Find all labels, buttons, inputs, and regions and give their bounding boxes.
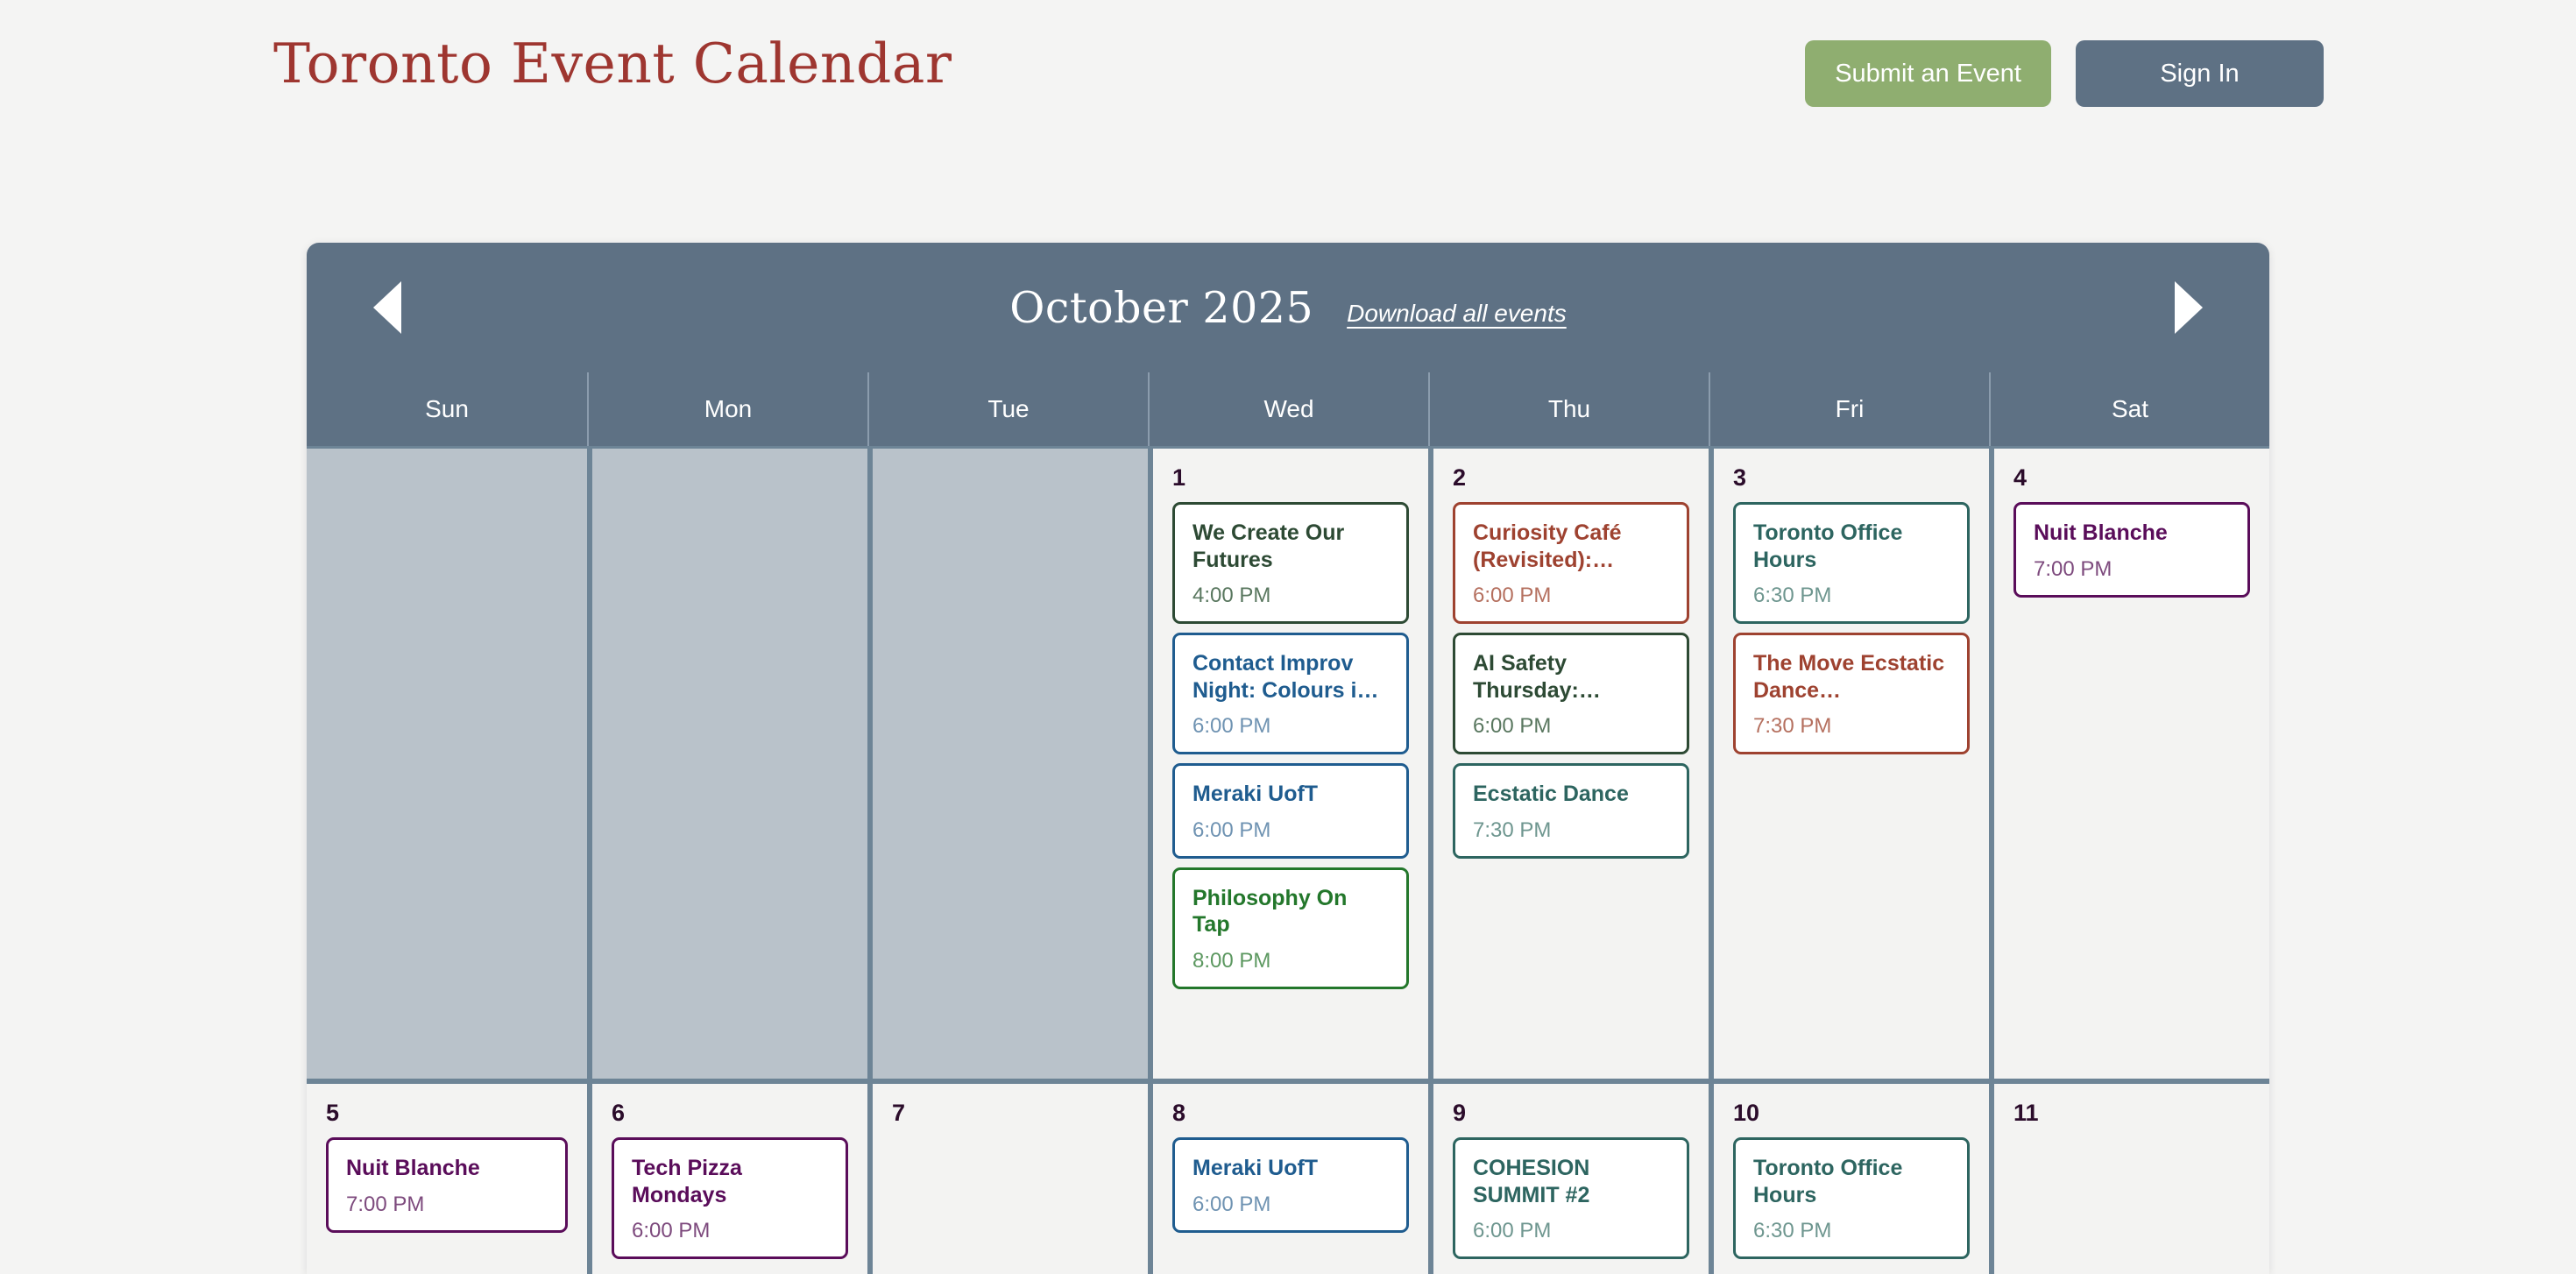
event-card[interactable]: Toronto Office Hours6:30 PM	[1733, 1137, 1970, 1259]
event-time: 6:00 PM	[1192, 820, 1389, 841]
download-all-events-link[interactable]: Download all events	[1347, 300, 1567, 328]
weekday-header-fri: Fri	[1709, 372, 1989, 446]
weekday-header-row: SunMonTueWedThuFriSat	[307, 372, 2269, 446]
event-title: Toronto Office Hours	[1753, 1155, 1950, 1208]
submit-an-event-button[interactable]: Submit an Event	[1805, 40, 2051, 107]
event-time: 6:00 PM	[1473, 1221, 1669, 1242]
event-title: Nuit Blanche	[346, 1155, 548, 1182]
weekday-header-thu: Thu	[1428, 372, 1709, 446]
event-title: AI Safety Thursday:…	[1473, 650, 1669, 704]
event-list: Toronto Office Hours6:30 PMThe Move Ecst…	[1733, 502, 1970, 754]
event-card[interactable]: Toronto Office Hours6:30 PM	[1733, 502, 1970, 624]
day-cell-4[interactable]: 4Nuit Blanche7:00 PM	[1989, 449, 2269, 1079]
event-time: 6:00 PM	[1473, 716, 1669, 737]
day-cell-3[interactable]: 3Toronto Office Hours6:30 PMThe Move Ecs…	[1709, 449, 1989, 1079]
event-list: We Create Our Futures4:00 PMContact Impr…	[1172, 502, 1409, 989]
day-cell-7[interactable]: 7	[867, 1084, 1148, 1274]
event-title: Nuit Blanche	[2034, 520, 2230, 547]
calendar-widget: October 2025 Download all events SunMonT…	[307, 243, 2269, 1274]
month-bar-center: October 2025 Download all events	[307, 243, 2269, 372]
weekday-header-sat: Sat	[1989, 372, 2269, 446]
header-actions: Submit an Event Sign In	[1805, 40, 2324, 107]
event-time: 7:00 PM	[346, 1194, 548, 1215]
day-number: 5	[326, 1101, 568, 1125]
weekday-header-sun: Sun	[307, 372, 587, 446]
event-list: Nuit Blanche7:00 PM	[326, 1137, 568, 1233]
day-number: 2	[1453, 466, 1689, 490]
day-number: 8	[1172, 1101, 1409, 1125]
day-cell-9[interactable]: 9COHESION SUMMIT #26:00 PM	[1428, 1084, 1709, 1274]
triangle-right-icon[interactable]	[2175, 281, 2203, 334]
event-card[interactable]: Meraki UofT6:00 PM	[1172, 1137, 1409, 1233]
event-time: 8:00 PM	[1192, 951, 1389, 972]
event-time: 6:30 PM	[1753, 585, 1950, 606]
event-card[interactable]: The Move Ecstatic Dance…7:30 PM	[1733, 633, 1970, 754]
event-time: 6:00 PM	[632, 1221, 828, 1242]
day-cell-6[interactable]: 6Tech Pizza Mondays6:00 PM	[587, 1084, 867, 1274]
day-cell-5[interactable]: 5Nuit Blanche7:00 PM	[307, 1084, 587, 1274]
page-title: Toronto Event Calendar	[273, 32, 952, 96]
event-title: Ecstatic Dance	[1473, 781, 1669, 808]
event-card[interactable]: Contact Improv Night: Colours i…6:00 PM	[1172, 633, 1409, 754]
event-title: We Create Our Futures	[1192, 520, 1389, 573]
day-number: 7	[892, 1101, 1129, 1125]
event-card[interactable]: Ecstatic Dance7:30 PM	[1453, 763, 1689, 859]
event-title: Philosophy On Tap	[1192, 885, 1389, 938]
day-cell-2[interactable]: 2Curiosity Café (Revisited):…6:00 PMAI S…	[1428, 449, 1709, 1079]
event-time: 4:00 PM	[1192, 585, 1389, 606]
event-list: Nuit Blanche7:00 PM	[2013, 502, 2250, 598]
event-card[interactable]: AI Safety Thursday:…6:00 PM	[1453, 633, 1689, 754]
event-title: Contact Improv Night: Colours i…	[1192, 650, 1389, 704]
event-time: 7:30 PM	[1753, 716, 1950, 737]
event-list: Meraki UofT6:00 PM	[1172, 1137, 1409, 1233]
event-time: 7:00 PM	[2034, 559, 2230, 580]
day-cell-11[interactable]: 11	[1989, 1084, 2269, 1274]
event-card[interactable]: Tech Pizza Mondays6:00 PM	[612, 1137, 848, 1259]
event-time: 6:00 PM	[1473, 585, 1669, 606]
event-title: Meraki UofT	[1192, 781, 1389, 808]
event-title: The Move Ecstatic Dance…	[1753, 650, 1950, 704]
event-list: Curiosity Café (Revisited):…6:00 PMAI Sa…	[1453, 502, 1689, 859]
event-time: 6:30 PM	[1753, 1221, 1950, 1242]
event-card[interactable]: We Create Our Futures4:00 PM	[1172, 502, 1409, 624]
current-month-label: October 2025	[1009, 283, 1313, 333]
event-card[interactable]: Philosophy On Tap8:00 PM	[1172, 867, 1409, 989]
day-number: 6	[612, 1101, 848, 1125]
day-number: 10	[1733, 1101, 1970, 1125]
event-title: Toronto Office Hours	[1753, 520, 1950, 573]
event-card[interactable]: Nuit Blanche7:00 PM	[2013, 502, 2250, 598]
calendar-week-row: 1We Create Our Futures4:00 PMContact Imp…	[307, 446, 2269, 1079]
event-card[interactable]: Meraki UofT6:00 PM	[1172, 763, 1409, 859]
event-title: Tech Pizza Mondays	[632, 1155, 828, 1208]
event-card[interactable]: Curiosity Café (Revisited):…6:00 PM	[1453, 502, 1689, 624]
day-cell-1[interactable]: 1We Create Our Futures4:00 PMContact Imp…	[1148, 449, 1428, 1079]
event-list: Tech Pizza Mondays6:00 PM	[612, 1137, 848, 1259]
top-header-bar: Toronto Event Calendar Submit an Event S…	[0, 0, 2576, 149]
day-cell-8[interactable]: 8Meraki UofT6:00 PM	[1148, 1084, 1428, 1274]
event-card[interactable]: Nuit Blanche7:00 PM	[326, 1137, 568, 1233]
calendar-month-bar: October 2025 Download all events	[307, 243, 2269, 372]
calendar-weeks: 1We Create Our Futures4:00 PMContact Imp…	[307, 446, 2269, 1274]
event-time: 7:30 PM	[1473, 820, 1669, 841]
day-number: 1	[1172, 466, 1409, 490]
event-list: Toronto Office Hours6:30 PM	[1733, 1137, 1970, 1259]
event-list: COHESION SUMMIT #26:00 PM	[1453, 1137, 1689, 1259]
day-number: 4	[2013, 466, 2250, 490]
calendar-week-row: 5Nuit Blanche7:00 PM6Tech Pizza Mondays6…	[307, 1079, 2269, 1274]
weekday-header-wed: Wed	[1148, 372, 1428, 446]
event-title: Meraki UofT	[1192, 1155, 1389, 1182]
day-number: 3	[1733, 466, 1970, 490]
event-time: 6:00 PM	[1192, 716, 1389, 737]
weekday-header-tue: Tue	[867, 372, 1148, 446]
day-cell-empty	[307, 449, 587, 1079]
event-card[interactable]: COHESION SUMMIT #26:00 PM	[1453, 1137, 1689, 1259]
sign-in-button[interactable]: Sign In	[2076, 40, 2324, 107]
day-cell-empty	[587, 449, 867, 1079]
event-title: Curiosity Café (Revisited):…	[1473, 520, 1669, 573]
event-time: 6:00 PM	[1192, 1194, 1389, 1215]
day-number: 11	[2013, 1101, 2250, 1125]
day-number: 9	[1453, 1101, 1689, 1125]
weekday-header-mon: Mon	[587, 372, 867, 446]
day-cell-empty	[867, 449, 1148, 1079]
day-cell-10[interactable]: 10Toronto Office Hours6:30 PM	[1709, 1084, 1989, 1274]
event-title: COHESION SUMMIT #2	[1473, 1155, 1669, 1208]
